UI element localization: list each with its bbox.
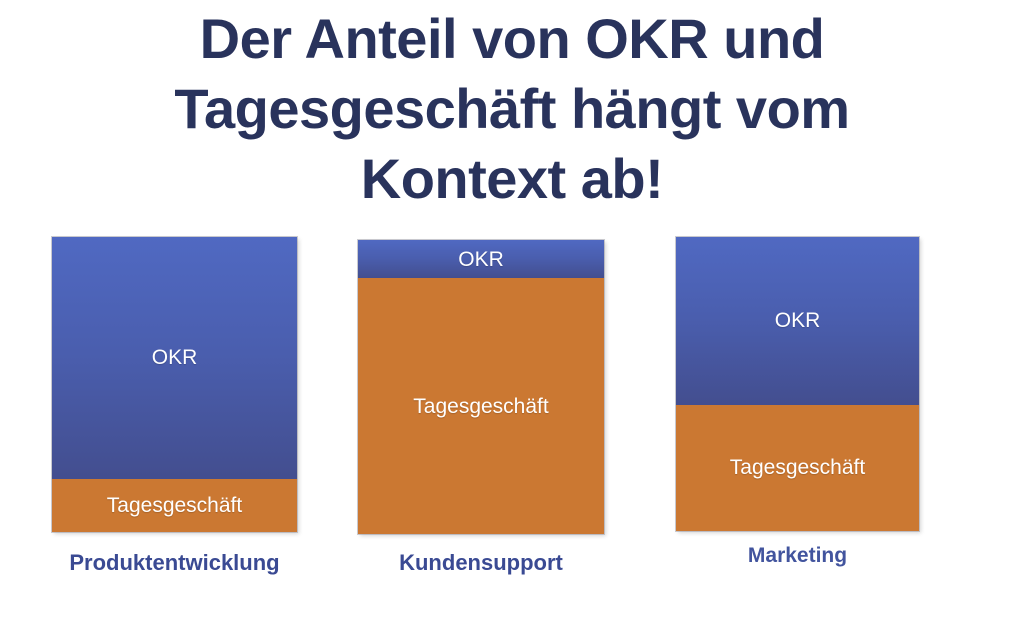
bar-segment-tagesgeschaeft-label: Tagesgeschäft — [413, 396, 548, 417]
bar-caption-produktentwicklung: Produktentwicklung — [52, 550, 297, 576]
bar-segment-tagesgeschaeft-label: Tagesgeschäft — [730, 457, 865, 478]
bar-stack-kundensupport[interactable]: OKR Tagesgeschäft — [358, 240, 604, 534]
bar-segment-okr-label: OKR — [775, 310, 821, 331]
bar-caption-marketing: Marketing — [676, 543, 919, 569]
stacked-bar-chart: OKR Tagesgeschäft Produktentwicklung OKR… — [0, 0, 1024, 640]
bar-segment-tagesgeschaeft[interactable]: Tagesgeschäft — [676, 405, 919, 531]
bar-segment-okr-label: OKR — [152, 347, 198, 368]
bar-segment-tagesgeschaeft[interactable]: Tagesgeschäft — [358, 278, 604, 534]
bar-stack-marketing[interactable]: OKR Tagesgeschäft — [676, 237, 919, 531]
bar-segment-okr-label: OKR — [458, 249, 504, 270]
bar-stack-produktentwicklung[interactable]: OKR Tagesgeschäft — [52, 237, 297, 532]
bar-caption-kundensupport: Kundensupport — [358, 550, 604, 576]
bar-segment-tagesgeschaeft[interactable]: Tagesgeschäft — [52, 479, 297, 532]
bar-segment-okr[interactable]: OKR — [358, 240, 604, 278]
bar-segment-okr[interactable]: OKR — [52, 237, 297, 479]
bar-segment-okr[interactable]: OKR — [676, 237, 919, 405]
bar-segment-tagesgeschaeft-label: Tagesgeschäft — [107, 495, 242, 516]
